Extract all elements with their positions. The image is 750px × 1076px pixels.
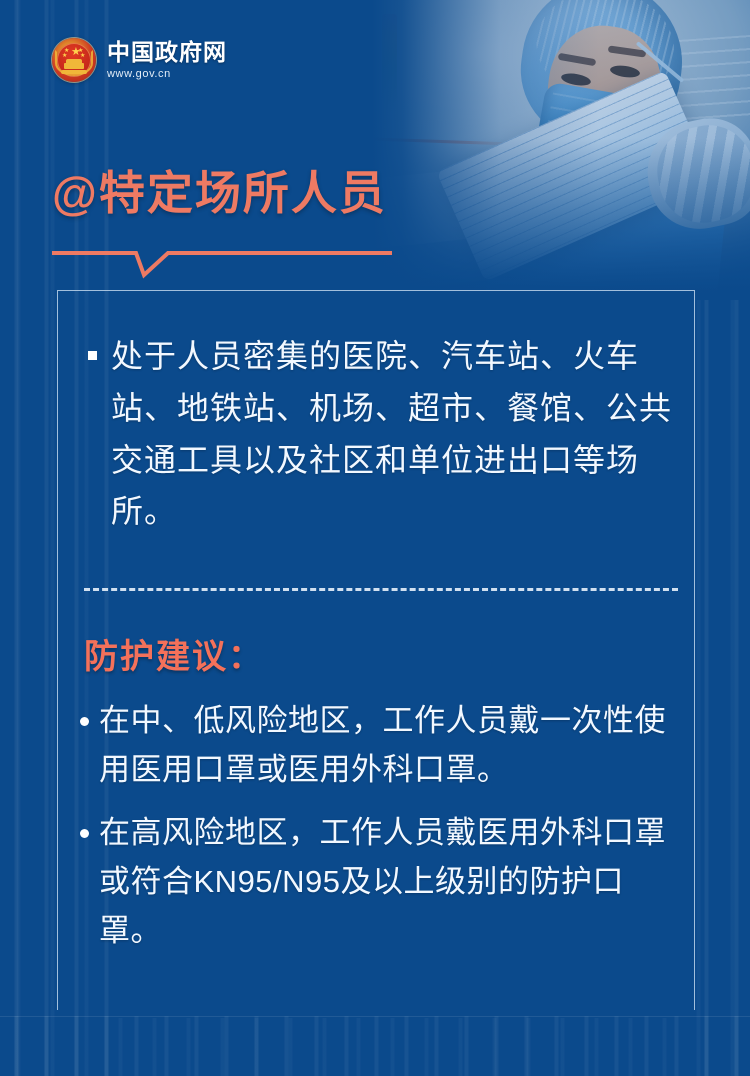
emblem-tiananmen-gate xyxy=(64,63,84,69)
advice-text-2: 在高风险地区，工作人员戴医用外科口罩或符合KN95/N95及以上级别的防护口罩。 xyxy=(99,809,680,956)
brand-url: www.gov.cn xyxy=(107,68,227,80)
square-bullet-icon xyxy=(88,351,97,360)
dot-bullet-icon xyxy=(80,717,89,726)
advice-list: 在中、低风险地区，工作人员戴一次性使用医用口罩或医用外科口罩。 在高风险地区，工… xyxy=(80,697,680,970)
brand-name: 中国政府网 xyxy=(107,40,227,65)
dashed-divider xyxy=(84,588,678,591)
scope-paragraph: 处于人员密集的医院、汽车站、火车站、地铁站、机场、超市、餐馆、公共交通工具以及社… xyxy=(88,331,676,538)
brand-text: 中国政府网 www.gov.cn xyxy=(107,40,227,80)
background-rib-texture-bottom xyxy=(0,1016,750,1076)
brand-logo[interactable]: ★ ★ ★ ★ ★ 中国政府网 www.gov.cn xyxy=(52,38,227,82)
emblem-base xyxy=(61,70,87,74)
emblem-star-4: ★ xyxy=(80,53,85,59)
poster-root: ★ ★ ★ ★ ★ 中国政府网 www.gov.cn @特定场所人员 处于人员密… xyxy=(0,0,750,1076)
scope-text: 处于人员密集的医院、汽车站、火车站、地铁站、机场、超市、餐馆、公共交通工具以及社… xyxy=(111,331,676,538)
hero-photo xyxy=(372,0,750,300)
hero-blue-gradient-overlay xyxy=(372,0,750,300)
list-item: 在高风险地区，工作人员戴医用外科口罩或符合KN95/N95及以上级别的防护口罩。 xyxy=(80,809,680,956)
list-item: 在中、低风险地区，工作人员戴一次性使用医用口罩或医用外科口罩。 xyxy=(80,697,680,795)
title-underline-with-tail xyxy=(52,248,392,280)
advice-heading: 防护建议： xyxy=(84,629,264,678)
china-national-emblem-icon: ★ ★ ★ ★ ★ xyxy=(52,38,96,82)
page-title: @特定场所人员 xyxy=(52,168,387,220)
advice-text-1: 在中、低风险地区，工作人员戴一次性使用医用口罩或医用外科口罩。 xyxy=(99,697,680,795)
dot-bullet-icon xyxy=(80,829,89,838)
content-card: 处于人员密集的医院、汽车站、火车站、地铁站、机场、超市、餐馆、公共交通工具以及社… xyxy=(57,290,695,1010)
